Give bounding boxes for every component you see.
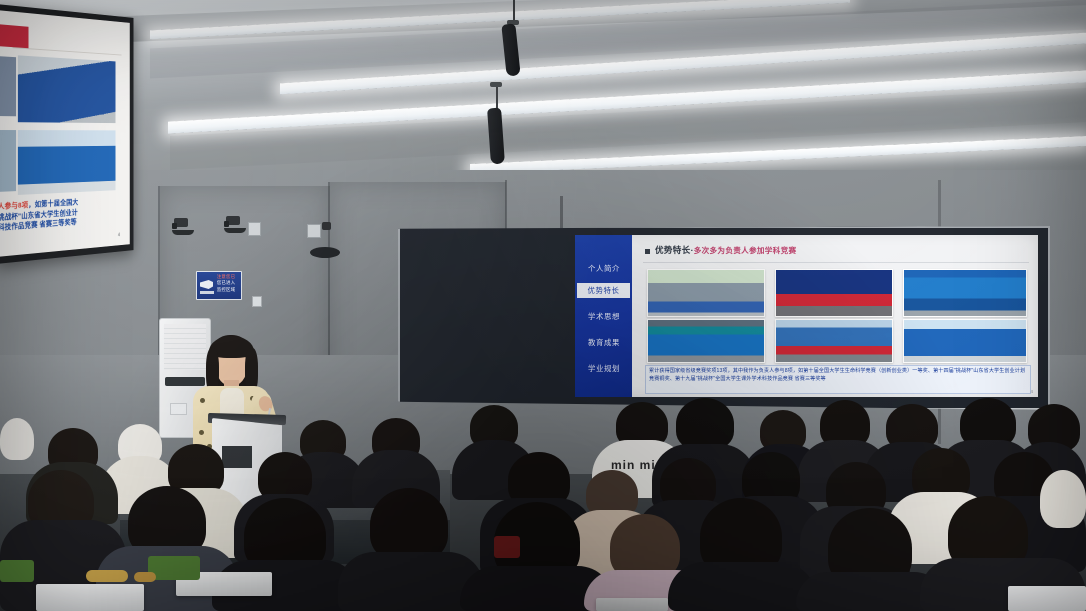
audience-head [370, 488, 448, 562]
audience-head-light [1040, 470, 1086, 528]
slide-caption-text: 累计获得国家级省级竞赛奖项13项，其中我作为负责人参与8项，如第十届全国大学生生… [649, 368, 1027, 383]
student-chair-green-2 [0, 560, 34, 582]
left-projection-screen: 人参与8项，如第十届全国大 挑战杯"山东省大学生创业计 科技作品竞赛 省赛三等奖… [0, 4, 133, 264]
wall-speaker-1 [248, 222, 261, 236]
slide-page-number: 4 [1031, 389, 1033, 394]
slide-sidebar: 个人简介 优势特长 学术思想 教育成果 学业规划 [575, 235, 632, 397]
slide-photo-conference-backdrop [647, 319, 765, 363]
audience-head [676, 398, 734, 450]
slide-photo-team-red-carpet [775, 319, 893, 363]
ceiling-mic-rod-1 [513, 0, 515, 22]
display-cable [938, 404, 941, 444]
left-slide-red-block [0, 24, 29, 48]
slide-photo-group-banner [647, 269, 765, 317]
slide-nav-item-strengths[interactable]: 优势特长 [577, 283, 630, 298]
wall-outlet-plate [252, 296, 262, 307]
ac-vent [165, 377, 205, 386]
wall-speaker-2 [307, 224, 321, 238]
slide-title-sub: 多次多为负责人参加学科竞赛 [694, 246, 797, 255]
slide-title-main: 优势特长 [655, 245, 691, 255]
slide-title-bullet-icon [645, 249, 650, 254]
left-slide-photo-edge-2 [0, 130, 16, 192]
slide-nav-item-profile[interactable]: 个人简介 [581, 261, 627, 276]
camera-body-icon [322, 222, 331, 230]
slide-photo-speaker-stage [903, 319, 1027, 363]
student-desk-3 [1008, 586, 1086, 611]
student-desk-1 [36, 584, 144, 611]
surveillance-warning-sign: 注意您已 您已进入 监控区域 [196, 271, 242, 300]
slide-photo-award-red [775, 269, 893, 317]
left-slide-page-number: 4 [118, 232, 120, 238]
camera-mount [224, 228, 246, 233]
slide-title: 优势特长·多次多为负责人参加学科竞赛 [655, 244, 796, 256]
presentation-slide: 个人简介 优势特长 学术思想 教育成果 学业规划 优势特长·多次多为负责人参加学… [575, 235, 1038, 397]
podium-inset-panel [222, 446, 252, 468]
student-desk-4 [596, 598, 668, 611]
left-slide-photo-speaker [18, 130, 116, 195]
display-mount-right [938, 180, 941, 228]
left-slide-caption: 人参与8项，如第十届全国大 挑战杯"山东省大学生创业计 科技作品竞赛 省赛三等奖… [0, 195, 120, 233]
display-mount-left [560, 196, 563, 228]
desk-item-snack [86, 570, 128, 582]
student-bag [494, 536, 520, 558]
left-slide-caption-highlight: 人参与8项 [0, 200, 28, 211]
desk-item-snack-2 [134, 572, 156, 582]
ceiling-mic-cap-2 [490, 82, 502, 87]
left-screen-surface: 人参与8项，如第十届全国大 挑战杯"山东省大学生创业计 科技作品竞赛 省赛三等奖… [0, 10, 130, 256]
ac-grill [164, 324, 206, 370]
left-slide-photo-group [18, 55, 116, 123]
left-slide-rule [12, 47, 121, 55]
left-slide-photo-edge-1 [0, 56, 16, 116]
ac-control-panel[interactable] [170, 403, 187, 415]
audience-head-light [0, 418, 34, 460]
slide-caption-box: 累计获得国家级省级竞赛奖项13项，其中我作为负责人参与8项，如第十届全国大学生生… [645, 365, 1031, 394]
sign-line-2: 您已进入 [213, 280, 239, 286]
main-display-panel[interactable]: 今天 是 个人简介 优势特长 学术思想 教育成果 学业规划 优势特长·多次多为负… [398, 226, 1050, 410]
lecture-hall-photo: 人参与8项，如第十届全国大 挑战杯"山东省大学生创业计 科技作品竞赛 省赛三等奖… [0, 0, 1086, 611]
slide-photo-stage-group [903, 269, 1027, 317]
sign-text: 注意您已 您已进入 监控区域 [213, 274, 239, 293]
camera-lens-icon [172, 223, 177, 229]
camera-glyph-icon [200, 280, 213, 289]
slide-nav-item-plan[interactable]: 学业规划 [581, 361, 627, 376]
wall-speaker-3 [310, 247, 340, 258]
slide-title-rule [643, 262, 1029, 263]
camera-mount [172, 230, 194, 235]
audience-shoulders [668, 562, 816, 611]
camera-glyph-base [200, 291, 214, 294]
camera-lens-icon [224, 221, 229, 227]
slide-nav-item-results[interactable]: 教育成果 [581, 335, 627, 350]
sign-line-3: 监控区域 [213, 287, 239, 293]
ceiling-mic-rod-2 [496, 84, 498, 110]
slide-nav-item-academic[interactable]: 学术思想 [581, 309, 627, 324]
